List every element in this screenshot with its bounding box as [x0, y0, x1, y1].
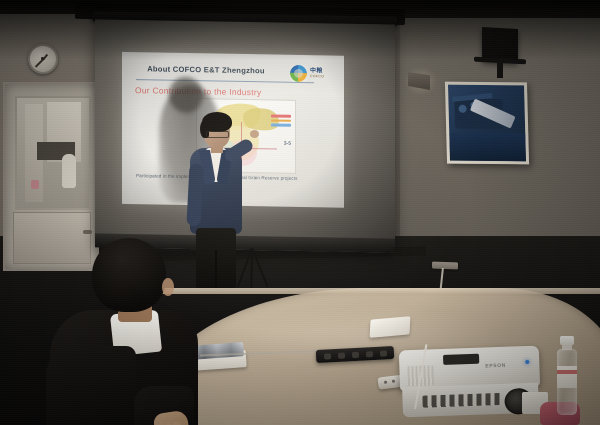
projector-lens-slot [443, 354, 479, 365]
presenter-leg-separation [215, 250, 217, 288]
water-bottle[interactable] [556, 336, 578, 416]
aerial-port-photo-poster [445, 82, 529, 165]
map-legend-label: 3-5 [284, 141, 291, 147]
wall-clock-icon [28, 44, 58, 74]
projector-status-led [525, 360, 529, 364]
presenter-glasses [206, 131, 229, 138]
attendee-hair [92, 238, 166, 312]
clock-minute-hand [35, 59, 43, 67]
slide-divider-rule [136, 79, 314, 83]
door-handle[interactable] [83, 230, 92, 234]
screen-tripod-stand [238, 248, 266, 292]
poster-silo-one [459, 105, 467, 113]
attendee-shoulder [46, 346, 136, 425]
cofco-logo-latin: COFCO [310, 75, 324, 79]
table-edge [150, 288, 600, 294]
bottle-cap [560, 336, 574, 345]
attendee-ear [162, 278, 174, 296]
bottle-label-stripe [557, 370, 577, 374]
cofco-logo: 中粮 COFCO [290, 63, 336, 84]
cofco-logo-text: 中粮 COFCO [310, 68, 324, 79]
map-legend [271, 114, 291, 128]
presenter-hand [250, 130, 259, 138]
projector-brand-label: EPSON [485, 363, 506, 370]
presenter-cast-shadow-head [169, 77, 203, 114]
door-window [15, 96, 91, 210]
paper-napkin[interactable] [370, 316, 411, 338]
seated-attendee [46, 236, 206, 425]
wall-speaker-stem [497, 60, 503, 78]
poster-water-area [449, 133, 526, 162]
door-window-pink-item [31, 180, 39, 189]
presentation-photo-scene: About COFCO E&T Zhengzhou Our Contributi… [0, 0, 600, 425]
projector[interactable]: EPSON [399, 346, 541, 423]
slide-title: About COFCO E&T Zhengzhou [122, 64, 290, 76]
door-window-pale-item [62, 154, 76, 188]
clock-center-pin [41, 57, 44, 60]
wall-power-outlet[interactable] [432, 262, 458, 270]
cofco-pinwheel-icon [290, 64, 307, 81]
